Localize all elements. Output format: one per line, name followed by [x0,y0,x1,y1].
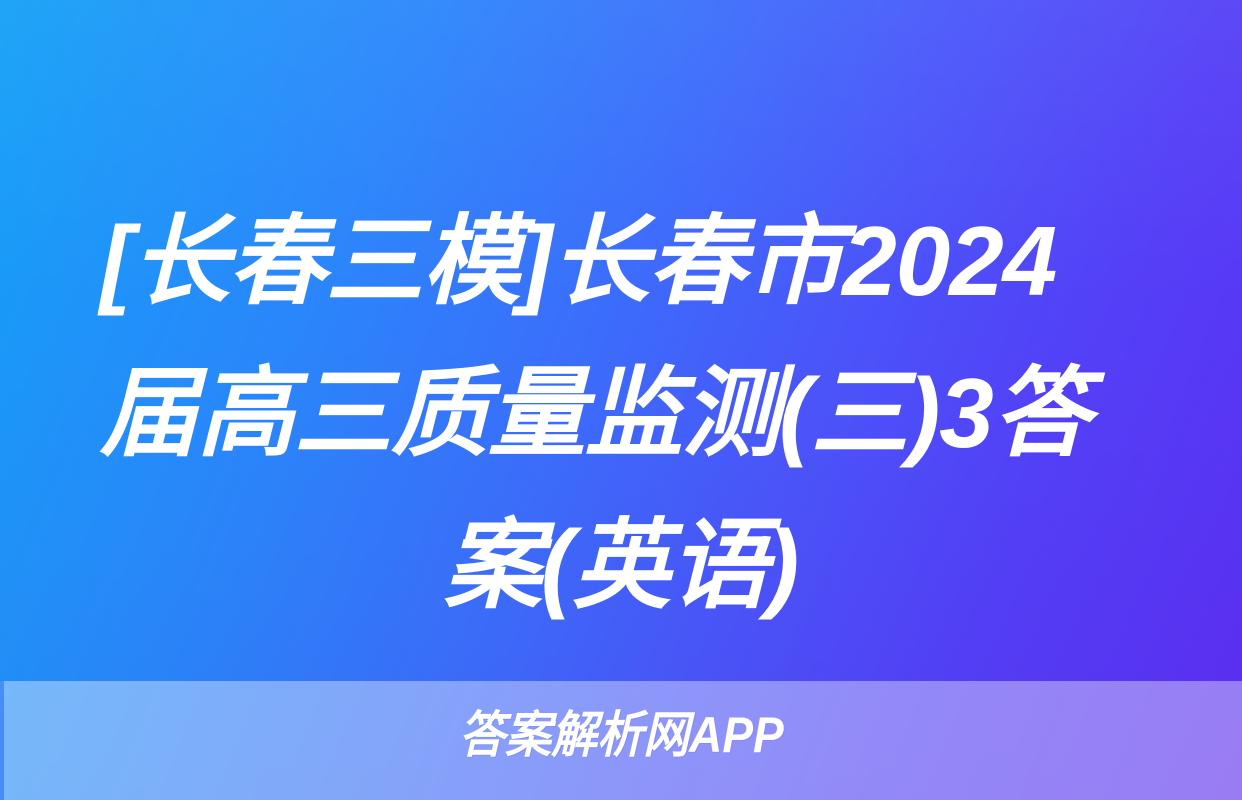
poster-canvas: [长春三模]长春市2024 届高三质量监测(三)3答 案(英语) 答案解析网AP… [0,0,1242,800]
watermark-label: 答案解析网APP [459,706,784,764]
title-line-1: [长春三模]长春市2024 [100,185,1142,337]
title-line-3: 案(英语) [100,489,1142,641]
title-line-2: 届高三质量监测(三)3答 [100,337,1142,489]
watermark: 答案解析网APP [0,706,1242,764]
poster-title: [长春三模]长春市2024 届高三质量监测(三)3答 案(英语) [0,185,1242,641]
